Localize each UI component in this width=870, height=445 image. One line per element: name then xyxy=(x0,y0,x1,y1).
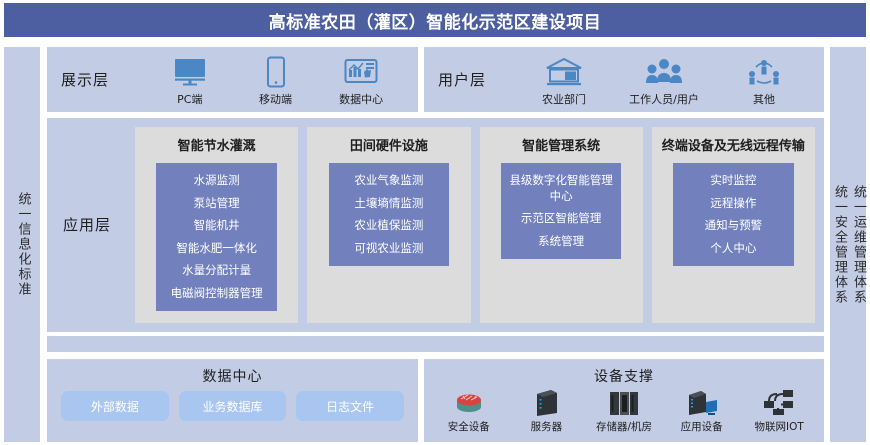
app-item[interactable]: 土壤墒情监测 xyxy=(333,193,445,215)
app-item[interactable]: 示范区智能管理 xyxy=(505,208,617,230)
device-support-icon-row: 安全设备 服务器 xyxy=(430,385,818,434)
application-layer-label: 应用层 xyxy=(63,214,111,235)
left-rail-label: 统一信息化标准 xyxy=(15,192,30,297)
app-card-title: 终端设备及无线远程传输 xyxy=(662,139,805,155)
app-item[interactable]: 县级数字化智能管理中心 xyxy=(505,170,617,207)
app-card-items: 农业气象监测 土壤墒情监测 农业植保监测 可视农业监测 xyxy=(329,163,449,266)
user-item-agriculture-dept-label: 农业部门 xyxy=(542,91,586,107)
app-item[interactable]: 农业气象监测 xyxy=(333,170,445,192)
user-layer-label: 用户层 xyxy=(438,69,486,90)
data-pill-external[interactable]: 外部数据 xyxy=(61,391,169,421)
device-item-iot-label: 物联网IOT xyxy=(755,419,804,434)
app-card-field-hardware: 田间硬件设施 农业气象监测 土壤墒情监测 农业植保监测 可视农业监测 xyxy=(307,127,470,323)
app-item[interactable]: 可视农业监测 xyxy=(333,238,445,260)
device-support-title: 设备支撑 xyxy=(424,366,824,386)
device-item-iot[interactable]: 物联网IOT xyxy=(742,385,816,434)
building-icon xyxy=(545,55,583,89)
people-group-icon xyxy=(644,55,684,89)
page-title: 高标准农田（灌区）智能化示范区建设项目 xyxy=(269,8,602,33)
user-item-agriculture-dept[interactable]: 农业部门 xyxy=(521,53,607,107)
device-item-storage-label: 存储器/机房 xyxy=(596,419,652,434)
app-item[interactable]: 实时监控 xyxy=(677,170,789,192)
app-item[interactable]: 智能机井 xyxy=(160,215,272,237)
app-item[interactable]: 个人中心 xyxy=(677,238,789,260)
data-pill-business-db[interactable]: 业务数据库 xyxy=(179,391,287,421)
display-item-mobile[interactable]: 移动端 xyxy=(233,53,319,107)
server-icon xyxy=(531,385,561,417)
device-item-application-label: 应用设备 xyxy=(681,419,723,434)
app-card-smart-irrigation: 智能节水灌溉 水源监测 泵站管理 智能机井 智能水肥一体化 水量分配计量 电磁阀… xyxy=(135,127,298,323)
right-rail-security-label: 统一安全管理体系 xyxy=(831,185,846,305)
right-rail-management-systems: 统一安全管理体系 统一运维管理体系 xyxy=(830,47,866,442)
device-item-security[interactable]: 安全设备 xyxy=(432,385,506,434)
device-item-application[interactable]: 应用设备 xyxy=(665,385,739,434)
app-card-title: 智能管理系统 xyxy=(522,139,600,155)
data-center-title: 数据中心 xyxy=(47,366,418,386)
user-item-staff-label: 工作人员/用户 xyxy=(629,91,699,107)
device-item-server[interactable]: 服务器 xyxy=(509,385,583,434)
user-layer-icon-row: 农业部门 工作人员/用户 xyxy=(514,47,814,112)
app-card-title: 田间硬件设施 xyxy=(350,139,428,155)
app-item[interactable]: 农业植保监测 xyxy=(333,215,445,237)
display-item-pc[interactable]: PC端 xyxy=(147,53,233,107)
display-layer-label: 展示层 xyxy=(61,69,109,90)
data-center-pill-row: 外部数据 业务数据库 日志文件 xyxy=(61,391,404,421)
architecture-diagram: 高标准农田（灌区）智能化示范区建设项目 统一信息化标准 统一安全管理体系 统一运… xyxy=(0,0,870,445)
device-item-server-label: 服务器 xyxy=(531,419,563,434)
app-card-items: 县级数字化智能管理中心 示范区智能管理 系统管理 xyxy=(501,163,621,259)
display-layer-icon-row: PC端 移动端 xyxy=(147,47,404,112)
router-icon xyxy=(452,385,486,417)
monitor-icon xyxy=(173,55,207,89)
app-item[interactable]: 远程操作 xyxy=(677,193,789,215)
app-item[interactable]: 水量分配计量 xyxy=(160,260,272,282)
display-item-datacenter[interactable]: 数据中心 xyxy=(318,53,404,107)
user-item-other[interactable]: 其他 xyxy=(721,53,807,107)
app-item[interactable]: 水源监测 xyxy=(160,170,272,192)
mobile-icon xyxy=(265,55,287,89)
user-item-other-label: 其他 xyxy=(753,91,775,107)
left-rail-info-standard: 统一信息化标准 xyxy=(4,47,40,442)
user-layer-band: 用户层 农业部门 xyxy=(424,47,824,112)
display-item-datacenter-label: 数据中心 xyxy=(339,91,383,107)
application-card-grid: 智能节水灌溉 水源监测 泵站管理 智能机井 智能水肥一体化 水量分配计量 电磁阀… xyxy=(135,127,815,323)
app-card-title: 智能节水灌溉 xyxy=(178,139,256,155)
right-rail-ops-label: 统一运维管理体系 xyxy=(850,185,865,305)
app-device-icon xyxy=(684,385,720,417)
app-item[interactable]: 智能水肥一体化 xyxy=(160,238,272,260)
data-center-band: 数据中心 外部数据 业务数据库 日志文件 xyxy=(47,359,418,442)
people-cycle-icon xyxy=(746,55,782,89)
data-pill-log-files[interactable]: 日志文件 xyxy=(296,391,404,421)
device-support-band: 设备支撑 安全设备 xyxy=(424,359,824,442)
app-item[interactable]: 通知与预警 xyxy=(677,215,789,237)
display-item-mobile-label: 移动端 xyxy=(259,91,292,107)
display-layer-band: 展示层 PC端 xyxy=(47,47,418,112)
device-item-storage[interactable]: 存储器/机房 xyxy=(587,385,661,434)
storage-rack-icon xyxy=(606,385,642,417)
device-item-security-label: 安全设备 xyxy=(448,419,490,434)
tablet-chart-icon xyxy=(344,55,378,89)
project-title-bar: 高标准农田（灌区）智能化示范区建设项目 xyxy=(4,3,866,37)
app-item[interactable]: 系统管理 xyxy=(505,231,617,253)
display-item-pc-label: PC端 xyxy=(177,91,202,107)
user-item-staff[interactable]: 工作人员/用户 xyxy=(621,53,707,107)
application-layer-band: 应用层 智能节水灌溉 水源监测 泵站管理 智能机井 智能水肥一体化 水量分配计量… xyxy=(47,118,824,332)
app-card-items: 实时监控 远程操作 通知与预警 个人中心 xyxy=(673,163,793,266)
app-item[interactable]: 泵站管理 xyxy=(160,193,272,215)
iot-network-icon xyxy=(761,385,797,417)
application-layer-spacer xyxy=(47,336,824,352)
app-card-smart-management: 智能管理系统 县级数字化智能管理中心 示范区智能管理 系统管理 xyxy=(480,127,643,323)
app-card-items: 水源监测 泵站管理 智能机井 智能水肥一体化 水量分配计量 电磁阀控制器管理 xyxy=(156,163,276,311)
app-item[interactable]: 电磁阀控制器管理 xyxy=(160,283,272,305)
app-card-terminal-transmission: 终端设备及无线远程传输 实时监控 远程操作 通知与预警 个人中心 xyxy=(652,127,815,323)
